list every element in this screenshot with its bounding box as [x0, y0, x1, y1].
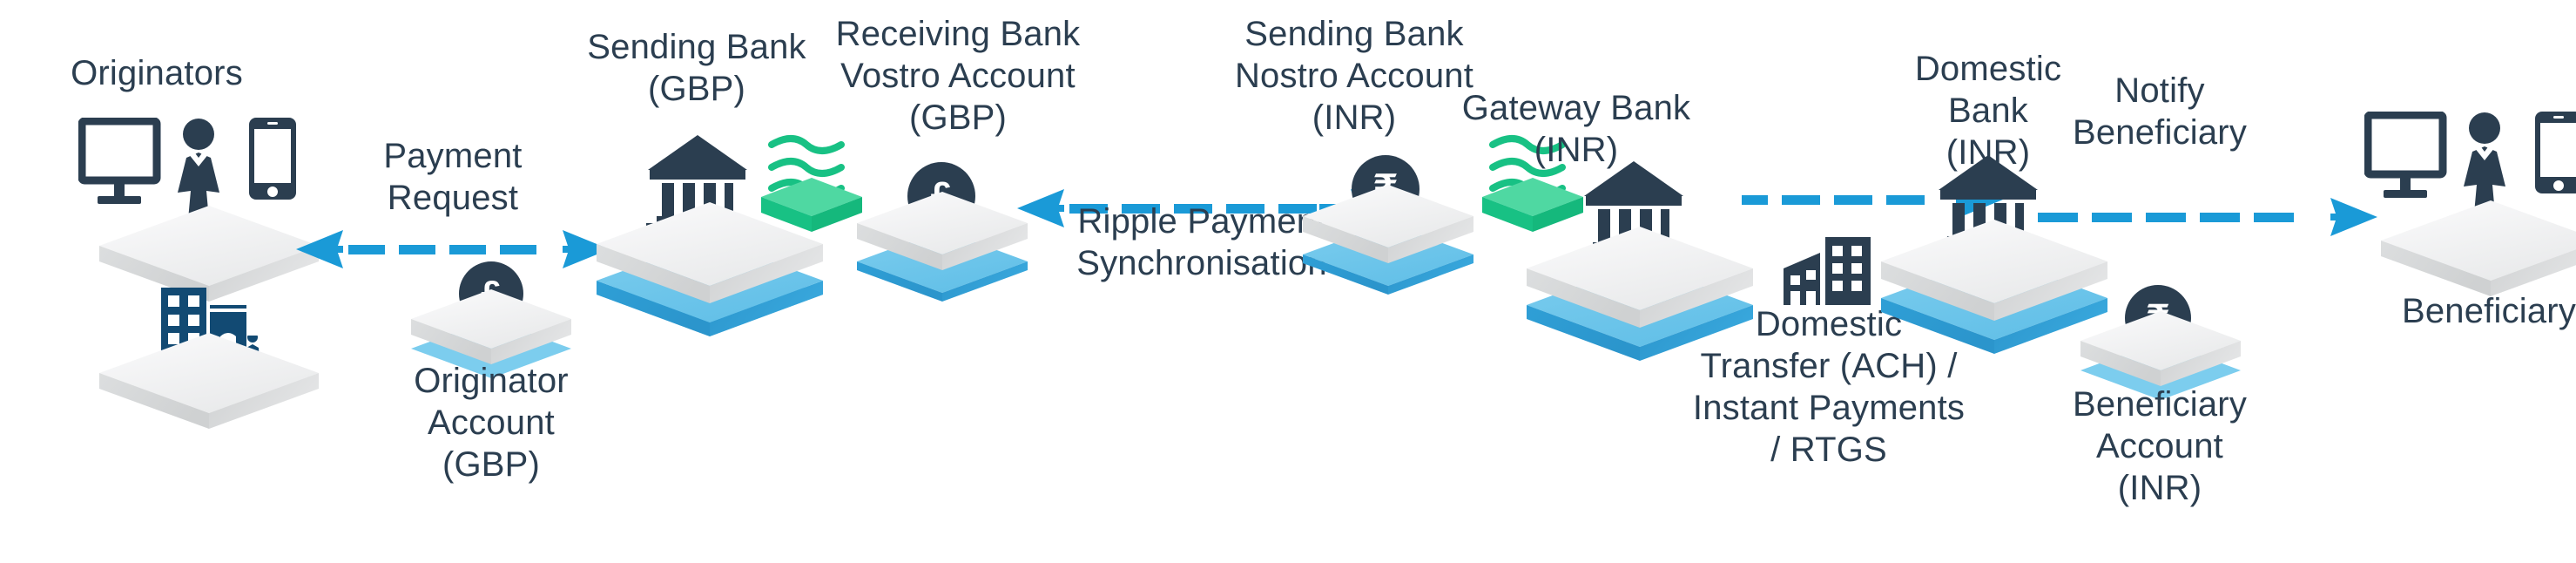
platform-receiving-bank-vostro [853, 190, 1032, 308]
monitor-icon [2368, 115, 2443, 198]
label-gateway-bank: Gateway Bank (INR) [1402, 87, 1750, 171]
connector-notify-beneficiary [2038, 196, 2377, 242]
label-beneficiary-account: Beneficiary Account (INR) [2055, 383, 2264, 509]
platform-sending-bank-nostro [1299, 183, 1478, 301]
phone-icon [2535, 112, 2576, 193]
label-receiving-bank-vostro: Receiving Bank Vostro Account (GBP) [810, 13, 1106, 139]
payment-flow-diagram: Originators [0, 0, 2576, 563]
connector-payment-request [296, 228, 610, 275]
label-beneficiary: Beneficiary [2367, 290, 2576, 332]
label-originators: Originators [17, 52, 296, 94]
phone-icon [249, 118, 296, 200]
monitor-icon [82, 121, 157, 204]
platform-originators-corporate [96, 331, 322, 440]
label-originator-account: Originator Account (GBP) [387, 360, 596, 485]
label-payment-request: Payment Request [348, 135, 557, 219]
label-notify-beneficiary: Notify Beneficiary [2038, 70, 2282, 153]
city-buildings-icon [1784, 230, 1874, 309]
label-sending-bank: Sending Bank (GBP) [557, 26, 836, 110]
